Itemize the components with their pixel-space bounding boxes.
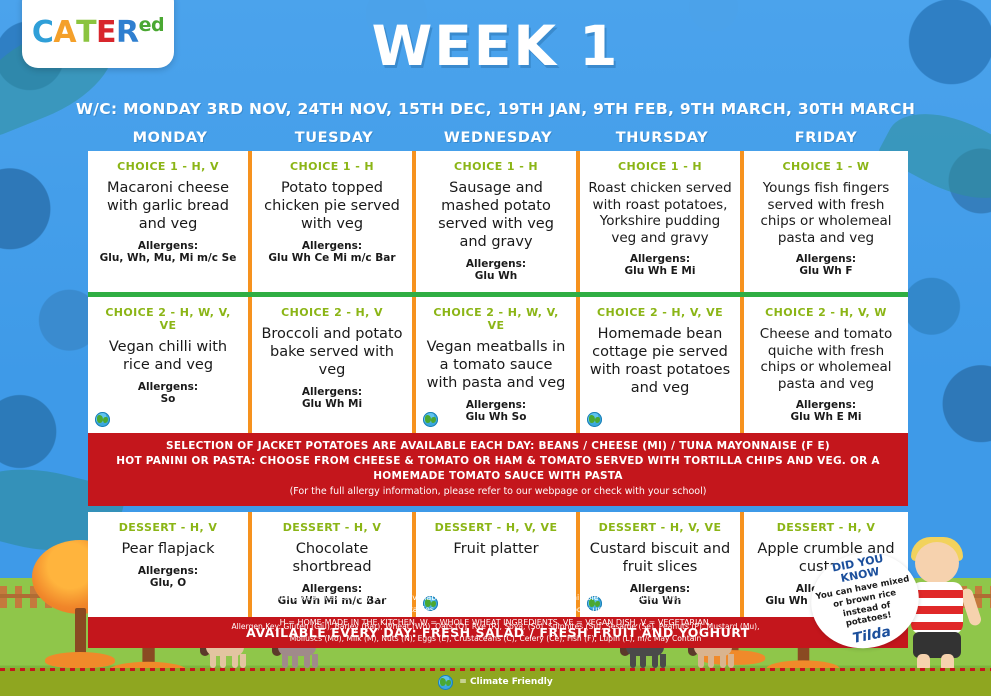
logo-letter-r: R bbox=[116, 15, 139, 50]
choice-label: CHOICE 1 - H, V bbox=[95, 160, 241, 173]
dish-name: Fruit platter bbox=[423, 541, 569, 559]
dish-name: Youngs fish fingers served with fresh ch… bbox=[751, 180, 901, 247]
choice-label: DESSERT - H, V, VE bbox=[423, 521, 569, 534]
menu-cell-choice1-thursday: CHOICE 1 - H Roast chicken served with r… bbox=[580, 151, 744, 292]
dish-name: Cheese and tomato quiche with fresh chip… bbox=[751, 326, 901, 393]
dish-name: Roast chicken served with roast potatoes… bbox=[587, 180, 733, 247]
dish-name: Chocolate shortbread bbox=[259, 541, 405, 577]
allergens-value: Glu Wh E Mi bbox=[587, 265, 733, 277]
jacket-banner-line2: HOT PANINI OR PASTA: CHOOSE FROM CHEESE … bbox=[98, 454, 898, 484]
allergens-value: Glu Wh bbox=[423, 270, 569, 282]
choice-label: DESSERT - H, V, VE bbox=[587, 521, 733, 534]
menu-cell-choice1-monday: CHOICE 1 - H, V Macaroni cheese with gar… bbox=[88, 151, 252, 292]
week-commencing-dates: W/C: MONDAY 3RD NOV, 24TH NOV, 15TH DEC,… bbox=[0, 100, 991, 118]
jacket-banner-note: (For the full allergy information, pleas… bbox=[98, 485, 898, 499]
allergens-title: Allergens: bbox=[751, 399, 901, 411]
dish-name: Vegan meatballs in a tomato sauce with p… bbox=[423, 339, 569, 393]
climate-friendly-label: = Climate Friendly bbox=[459, 677, 552, 687]
logo-letter-c: C bbox=[32, 15, 54, 50]
logo-wordmark: CATERed bbox=[32, 4, 164, 50]
dish-name: Pear flapjack bbox=[95, 541, 241, 559]
allergens-title: Allergens: bbox=[95, 565, 241, 577]
allergens-value: Glu Wh So bbox=[423, 411, 569, 423]
climate-friendly-globe-icon bbox=[95, 412, 110, 427]
day-header-wednesday: WEDNESDAY bbox=[416, 130, 580, 146]
choice-label: CHOICE 2 - H, V, W bbox=[751, 306, 901, 319]
choice-label: CHOICE 1 - W bbox=[751, 160, 901, 173]
dish-name: Homemade bean cottage pie served with ro… bbox=[587, 326, 733, 398]
dish-name: Broccoli and potato bake served with veg bbox=[259, 326, 405, 380]
dish-name: Custard biscuit and fruit slices bbox=[587, 541, 733, 577]
day-header-monday: MONDAY bbox=[88, 130, 252, 146]
logo-suffix-ed: ed bbox=[139, 14, 165, 36]
menu-cell-choice1-wednesday: CHOICE 1 - H Sausage and mashed potato s… bbox=[416, 151, 580, 292]
allergens-title: Allergens: bbox=[95, 240, 241, 252]
menu-cell-choice2-monday: CHOICE 2 - H, W, V, VE Vegan chilli with… bbox=[88, 297, 252, 433]
menu-cell-choice1-tuesday: CHOICE 1 - H Potato topped chicken pie s… bbox=[252, 151, 416, 292]
allergens-title: Allergens: bbox=[587, 253, 733, 265]
allergens-value: Glu Wh E Mi bbox=[751, 411, 901, 423]
choice-label: CHOICE 2 - H, V, VE bbox=[587, 306, 733, 319]
climate-friendly-globe-icon bbox=[423, 412, 438, 427]
menu-board: MONDAY TUESDAY WEDNESDAY THURSDAY FRIDAY… bbox=[88, 130, 908, 648]
allergens-title: Allergens: bbox=[259, 240, 405, 252]
choice-label: CHOICE 2 - H, V bbox=[259, 306, 405, 319]
allergens-value: So bbox=[95, 393, 241, 405]
menu-cell-choice1-friday: CHOICE 1 - W Youngs fish fingers served … bbox=[744, 151, 908, 292]
choice-label: CHOICE 1 - H bbox=[423, 160, 569, 173]
catered-logo: CATERed bbox=[22, 0, 174, 68]
allergens-value: Glu Wh Mi bbox=[259, 398, 405, 410]
choice-label: DESSERT - H, V bbox=[95, 521, 241, 534]
allergens-title: Allergens: bbox=[423, 399, 569, 411]
choice-label: CHOICE 1 - H bbox=[587, 160, 733, 173]
choice-label: CHOICE 2 - H, W, V, VE bbox=[95, 306, 241, 332]
choice-label: CHOICE 1 - H bbox=[259, 160, 405, 173]
jacket-banner-line1: SELECTION OF JACKET POTATOES ARE AVAILAB… bbox=[98, 439, 898, 454]
dish-name: Potato topped chicken pie served with ve… bbox=[259, 180, 405, 234]
choice-label: CHOICE 2 - H, W, V, VE bbox=[423, 306, 569, 332]
choice2-row: CHOICE 2 - H, W, V, VE Vegan chilli with… bbox=[88, 297, 908, 433]
allergens-value: Glu, Wh, Mu, Mi m/c Se bbox=[95, 252, 241, 264]
logo-letter-t: T bbox=[76, 15, 96, 50]
allergens-title: Allergens: bbox=[423, 258, 569, 270]
climate-friendly-globe-icon bbox=[438, 675, 453, 690]
allergens-title: Allergens: bbox=[95, 381, 241, 393]
menu-cell-choice2-tuesday: CHOICE 2 - H, V Broccoli and potato bake… bbox=[252, 297, 416, 433]
choice-label: DESSERT - H, V bbox=[751, 521, 901, 534]
menu-cell-choice2-thursday: CHOICE 2 - H, V, VE Homemade bean cottag… bbox=[580, 297, 744, 433]
choice1-row: CHOICE 1 - H, V Macaroni cheese with gar… bbox=[88, 151, 908, 292]
day-header-row: MONDAY TUESDAY WEDNESDAY THURSDAY FRIDAY bbox=[88, 130, 908, 146]
allergens-value: Glu, O bbox=[95, 577, 241, 589]
dish-name: Vegan chilli with rice and veg bbox=[95, 339, 241, 375]
menu-cell-choice2-wednesday: CHOICE 2 - H, W, V, VE Vegan meatballs i… bbox=[416, 297, 580, 433]
day-header-thursday: THURSDAY bbox=[580, 130, 744, 146]
climate-friendly-bar: = Climate Friendly bbox=[0, 668, 991, 696]
did-you-know-body: You can have mixed or brown rice instead… bbox=[815, 574, 917, 634]
day-header-friday: FRIDAY bbox=[744, 130, 908, 146]
day-header-tuesday: TUESDAY bbox=[252, 130, 416, 146]
dish-name: Sausage and mashed potato served with ve… bbox=[423, 180, 569, 252]
allergens-title: Allergens: bbox=[259, 386, 405, 398]
dish-name: Macaroni cheese with garlic bread and ve… bbox=[95, 180, 241, 234]
logo-letter-e: E bbox=[96, 15, 116, 50]
allergens-value: Glu Wh Ce Mi m/c Bar bbox=[259, 252, 405, 264]
climate-friendly-globe-icon bbox=[587, 412, 602, 427]
allergens-title: Allergens: bbox=[751, 253, 901, 265]
menu-cell-choice2-friday: CHOICE 2 - H, V, W Cheese and tomato qui… bbox=[744, 297, 908, 433]
choice-label: DESSERT - H, V bbox=[259, 521, 405, 534]
allergens-value: Glu Wh F bbox=[751, 265, 901, 277]
logo-letter-a: A bbox=[53, 15, 76, 50]
jacket-potato-banner: SELECTION OF JACKET POTATOES ARE AVAILAB… bbox=[88, 433, 908, 506]
